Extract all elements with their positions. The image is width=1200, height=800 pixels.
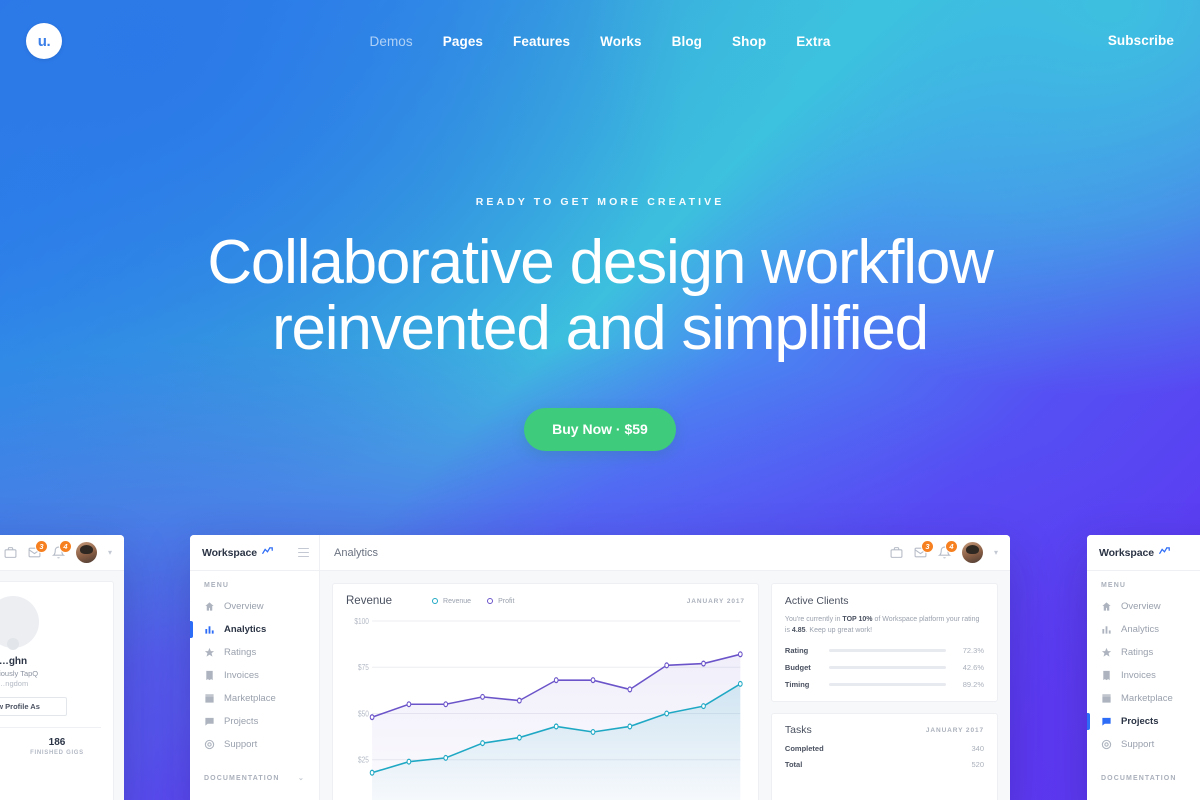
sidebar-item-label: Overview bbox=[224, 601, 264, 612]
workspace-brand[interactable]: Workspace bbox=[190, 535, 320, 571]
sparkline-icon bbox=[262, 547, 273, 558]
nav-item-extra[interactable]: Extra bbox=[796, 34, 830, 49]
sidebar-section-documentation[interactable]: DOCUMENTATION ⌄ bbox=[1087, 768, 1200, 788]
sidebar-section-menu: MENU bbox=[1087, 582, 1200, 595]
legend-dot-profit bbox=[487, 598, 493, 604]
sidebar: MENU Overview Analytics Ratings Invoices bbox=[190, 571, 320, 800]
sidebar-item-label: Support bbox=[1121, 739, 1154, 750]
sidebar-section-documentation[interactable]: DOCUMENTATION ⌄ bbox=[190, 768, 319, 788]
profile-card: …ghn …viously TapQ …ngdom View Profile A… bbox=[0, 581, 114, 800]
svg-text:$50: $50 bbox=[358, 709, 369, 719]
metric-value: 72.3% bbox=[954, 646, 984, 655]
sidebar-item-marketplace[interactable]: Marketplace bbox=[190, 687, 319, 710]
nav-menu: Demos Pages Features Works Blog Shop Ext… bbox=[0, 34, 1200, 49]
bar-chart-icon bbox=[1101, 624, 1112, 635]
metric-bar bbox=[829, 683, 946, 686]
sidebar-item-label: Marketplace bbox=[224, 693, 276, 704]
chat-icon bbox=[204, 716, 215, 727]
bell-icon[interactable]: 4 bbox=[52, 546, 65, 559]
metric-row-budget: Budget 42.6% bbox=[785, 663, 984, 672]
active-clients-card: Active Clients You're currently in TOP 1… bbox=[771, 583, 998, 702]
mock-right-body: MENU Overview Analytics Ratings Invoices bbox=[1087, 571, 1200, 800]
profile-stat: 186 FINISHED GIGS bbox=[13, 737, 101, 756]
sidebar-item-ratings[interactable]: Ratings bbox=[190, 641, 319, 664]
legend-label: Profit bbox=[498, 598, 514, 605]
workspace-brand[interactable]: Workspace bbox=[1087, 535, 1200, 571]
tasks-card-title: Tasks bbox=[785, 724, 812, 736]
sidebar-item-invoices[interactable]: Invoices bbox=[1087, 664, 1200, 687]
profile-name: …ghn bbox=[0, 656, 101, 667]
revenue-card-title: Revenue bbox=[346, 595, 392, 607]
svg-text:$25: $25 bbox=[358, 755, 369, 765]
legend-item-revenue[interactable]: Revenue bbox=[432, 598, 471, 605]
metric-label: Budget bbox=[785, 663, 821, 672]
page-root: u. Demos Pages Features Works Blog Shop … bbox=[0, 0, 1200, 800]
sidebar-item-projects[interactable]: Projects bbox=[190, 710, 319, 733]
tasks-row-label: Total bbox=[785, 760, 802, 769]
profile-location: …ngdom bbox=[0, 679, 101, 688]
metric-bar bbox=[829, 649, 946, 652]
tasks-row-value: 340 bbox=[971, 744, 984, 753]
legend-label: Revenue bbox=[443, 598, 471, 605]
sidebar-item-label: Analytics bbox=[1121, 624, 1159, 635]
chevron-down-icon: ⌄ bbox=[298, 774, 305, 782]
profile-stat: …4 …NTS bbox=[0, 737, 13, 756]
user-avatar[interactable] bbox=[76, 542, 97, 563]
sidebar: MENU Overview Analytics Ratings Invoices bbox=[1087, 571, 1200, 800]
tasks-row-value: 520 bbox=[971, 760, 984, 769]
mock-left-topbar: 3 4 ▾ bbox=[0, 535, 124, 571]
sidebar-section-menu: MENU bbox=[190, 582, 319, 595]
nav-item-features[interactable]: Features bbox=[513, 34, 570, 49]
mock-center-main: Revenue Revenue Profit bbox=[320, 571, 1010, 800]
sidebar-item-label: Support bbox=[224, 739, 257, 750]
invoice-icon bbox=[1101, 670, 1112, 681]
metric-row-rating: Rating 72.3% bbox=[785, 646, 984, 655]
star-icon bbox=[1101, 647, 1112, 658]
sparkline-icon bbox=[1159, 547, 1170, 558]
mock-center-body: MENU Overview Analytics Ratings Invoices bbox=[190, 571, 1010, 800]
nav-item-blog[interactable]: Blog bbox=[672, 34, 702, 49]
tasks-row-label: Completed bbox=[785, 744, 824, 753]
ac-desc-pre: You're currently in bbox=[785, 616, 843, 623]
revenue-chart-labels: $25$50$75$100 bbox=[346, 615, 771, 800]
invoice-icon bbox=[204, 670, 215, 681]
main-column-right: Active Clients You're currently in TOP 1… bbox=[771, 583, 998, 800]
ac-desc-rating: 4.85 bbox=[792, 627, 806, 634]
view-profile-as-button[interactable]: View Profile As bbox=[0, 697, 67, 716]
nav-item-works[interactable]: Works bbox=[600, 34, 642, 49]
bar-chart-icon bbox=[204, 624, 215, 635]
metric-value: 42.6% bbox=[954, 663, 984, 672]
tasks-card-header: Tasks JANUARY 2017 bbox=[772, 714, 997, 744]
profile-stat-value: …4 bbox=[0, 737, 13, 748]
profile-avatar bbox=[0, 596, 39, 648]
sidebar-item-analytics[interactable]: Analytics bbox=[190, 618, 319, 641]
revenue-card: Revenue Revenue Profit bbox=[332, 583, 759, 800]
revenue-card-date: JANUARY 2017 bbox=[687, 598, 745, 605]
ac-desc-top: TOP 10% bbox=[842, 616, 872, 623]
dashboard-mock-right: Workspace MENU Overview Analytics bbox=[1087, 535, 1200, 800]
mail-icon[interactable]: 3 bbox=[28, 546, 41, 559]
chevron-down-icon[interactable]: ▾ bbox=[994, 548, 998, 557]
nav-item-shop[interactable]: Shop bbox=[732, 34, 766, 49]
tasks-card-date: JANUARY 2017 bbox=[926, 727, 984, 734]
legend-item-profit[interactable]: Profit bbox=[487, 598, 514, 605]
workspace-title: Workspace bbox=[202, 547, 257, 559]
dashboard-mock-center: Workspace Analytics 3 4 bbox=[190, 535, 1010, 800]
metric-label: Timing bbox=[785, 680, 821, 689]
sidebar-divider bbox=[190, 756, 319, 768]
sidebar-item-label: Invoices bbox=[1121, 670, 1156, 681]
sidebar-item-label: Projects bbox=[1121, 716, 1159, 727]
sidebar-item-analytics[interactable]: Analytics bbox=[1087, 618, 1200, 641]
chevron-down-icon[interactable]: ▾ bbox=[108, 548, 112, 557]
home-icon bbox=[204, 601, 215, 612]
sidebar-item-label: Marketplace bbox=[1121, 693, 1173, 704]
active-clients-title: Active Clients bbox=[785, 595, 984, 607]
sidebar-item-overview[interactable]: Overview bbox=[190, 595, 319, 618]
mail-badge: 3 bbox=[35, 540, 48, 553]
metric-label: Rating bbox=[785, 646, 821, 655]
user-avatar[interactable] bbox=[962, 542, 983, 563]
bell-icon[interactable]: 4 bbox=[938, 546, 951, 559]
sidebar-documentation-label: DOCUMENTATION bbox=[204, 775, 279, 782]
sidebar-item-label: Invoices bbox=[224, 670, 259, 681]
sidebar-item-support[interactable]: Support bbox=[1087, 733, 1200, 756]
profile-stat-label: FINISHED GIGS bbox=[13, 750, 101, 756]
sidebar-item-projects[interactable]: Projects bbox=[1087, 710, 1200, 733]
revenue-card-header: Revenue Revenue Profit bbox=[333, 584, 758, 615]
sidebar-item-marketplace[interactable]: Marketplace bbox=[1087, 687, 1200, 710]
profile-stats: …4 …NTS 186 FINISHED GIGS bbox=[0, 727, 101, 756]
sidebar-item-label: Projects bbox=[224, 716, 258, 727]
svg-text:$75: $75 bbox=[358, 663, 369, 673]
sidebar-item-label: Analytics bbox=[224, 624, 266, 635]
revenue-chart: $25$50$75$100 bbox=[333, 615, 758, 800]
legend-dot-revenue bbox=[432, 598, 438, 604]
sidebar-item-label: Overview bbox=[1121, 601, 1161, 612]
top-navigation: u. Demos Pages Features Works Blog Shop … bbox=[0, 0, 1200, 82]
ac-desc-post: . Keep up great work! bbox=[806, 627, 873, 634]
hero-headline: Collaborative design workflow reinvented… bbox=[0, 230, 1200, 362]
store-icon bbox=[204, 693, 215, 704]
briefcase-icon[interactable] bbox=[890, 546, 903, 559]
mock-left-topbar-actions: 3 4 ▾ bbox=[4, 542, 124, 563]
nav-item-demos[interactable]: Demos bbox=[370, 34, 413, 49]
lifebuoy-icon bbox=[204, 739, 215, 750]
hero-headline-line1: Collaborative design workflow bbox=[0, 230, 1200, 296]
mail-icon[interactable]: 3 bbox=[914, 546, 927, 559]
mock-center-topbar: Workspace Analytics 3 4 bbox=[190, 535, 1010, 571]
star-icon bbox=[204, 647, 215, 658]
mock-right-topbar: Workspace bbox=[1087, 535, 1200, 571]
store-icon bbox=[1101, 693, 1112, 704]
dashboard-mock-left: 3 4 ▾ …ghn …viously TapQ …ngdom View Pro… bbox=[0, 535, 124, 800]
metric-value: 89.2% bbox=[954, 680, 984, 689]
lifebuoy-icon bbox=[1101, 739, 1112, 750]
mock-left-body: …ghn …viously TapQ …ngdom View Profile A… bbox=[0, 571, 124, 800]
main-column-left: Revenue Revenue Profit bbox=[332, 583, 759, 800]
profile-stat-value: 186 bbox=[13, 737, 101, 748]
profile-subtitle: …viously TapQ bbox=[0, 669, 101, 678]
bell-badge: 4 bbox=[59, 540, 72, 553]
metric-bar bbox=[829, 666, 946, 669]
svg-text:$100: $100 bbox=[354, 616, 369, 626]
hero-eyebrow: READY TO GET MORE CREATIVE bbox=[0, 196, 1200, 208]
sidebar-item-support[interactable]: Support bbox=[190, 733, 319, 756]
workspace-title: Workspace bbox=[1099, 547, 1154, 559]
sidebar-item-label: Ratings bbox=[1121, 647, 1153, 658]
tasks-row-total: Total 520 bbox=[772, 760, 997, 776]
briefcase-icon[interactable] bbox=[4, 546, 17, 559]
chat-icon bbox=[1101, 716, 1112, 727]
home-icon bbox=[1101, 601, 1112, 612]
sidebar-item-label: Ratings bbox=[224, 647, 256, 658]
buy-now-button[interactable]: Buy Now · $59 bbox=[524, 408, 676, 451]
sidebar-item-overview[interactable]: Overview bbox=[1087, 595, 1200, 618]
hero-headline-line2: reinvented and simplified bbox=[0, 296, 1200, 362]
bell-badge: 4 bbox=[945, 540, 958, 553]
mail-badge: 3 bbox=[921, 540, 934, 553]
sidebar-divider bbox=[1087, 756, 1200, 768]
hamburger-icon[interactable] bbox=[298, 548, 309, 558]
profile-stat-label: …NTS bbox=[0, 750, 13, 756]
mock-center-topbar-actions: 3 4 ▾ bbox=[890, 542, 1010, 563]
sidebar-item-invoices[interactable]: Invoices bbox=[190, 664, 319, 687]
page-title: Analytics bbox=[320, 547, 378, 559]
metric-row-timing: Timing 89.2% bbox=[785, 680, 984, 689]
sidebar-item-ratings[interactable]: Ratings bbox=[1087, 641, 1200, 664]
nav-item-pages[interactable]: Pages bbox=[443, 34, 483, 49]
active-clients-description: You're currently in TOP 10% of Workspace… bbox=[785, 614, 984, 636]
tasks-row-completed: Completed 340 bbox=[772, 744, 997, 760]
tasks-card: Tasks JANUARY 2017 Completed 340 Total 5… bbox=[771, 713, 998, 800]
sidebar-documentation-label: DOCUMENTATION bbox=[1101, 775, 1176, 782]
revenue-legend: Revenue Profit bbox=[432, 598, 514, 605]
